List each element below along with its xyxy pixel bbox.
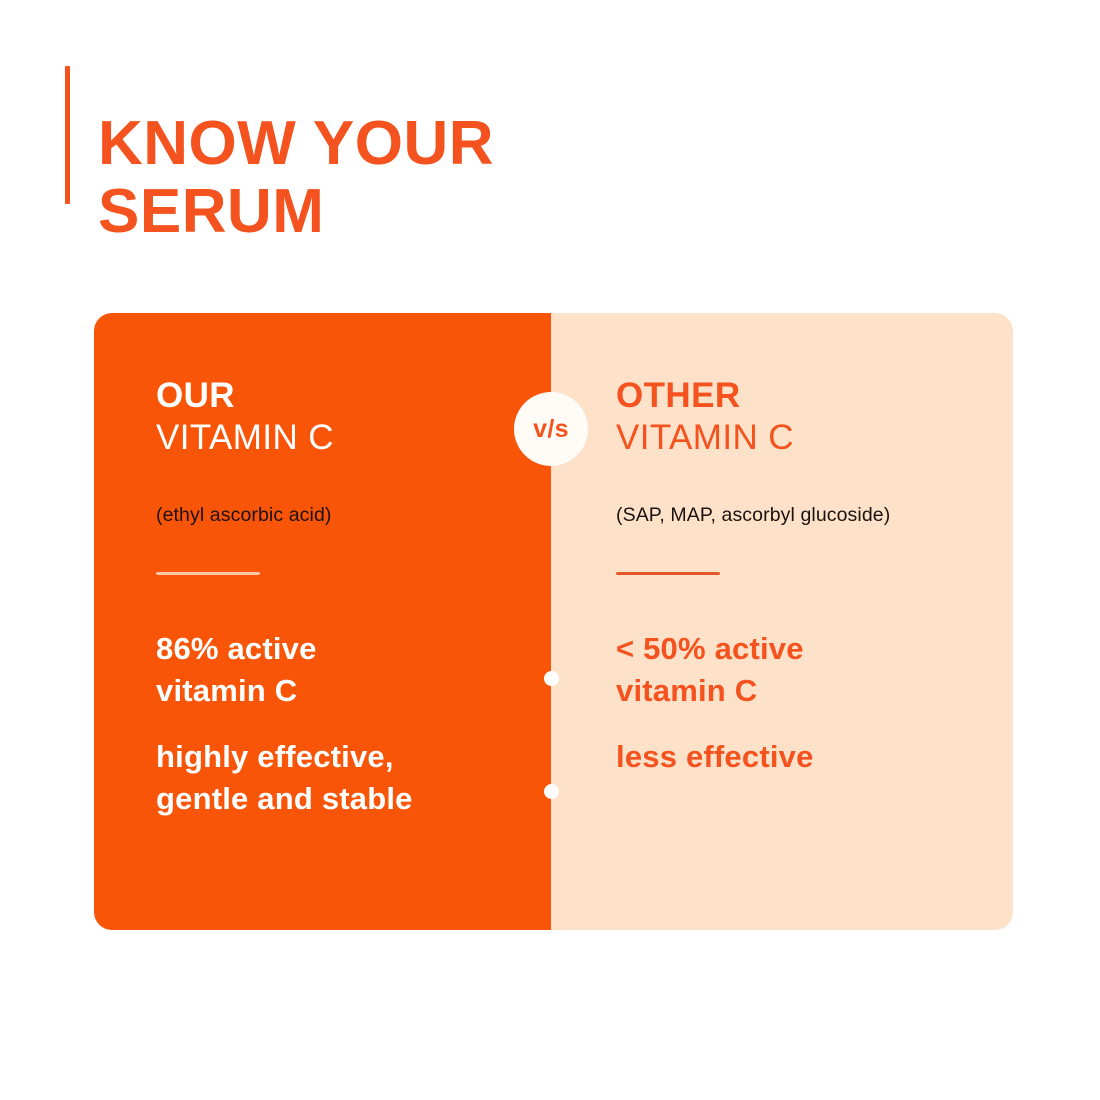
other-subtitle: (SAP, MAP, ascorbyl glucoside) [616, 502, 1013, 528]
our-divider-rule [156, 572, 260, 575]
our-bullet-2: highly effective, gentle and stable [156, 736, 551, 820]
other-divider-rule [616, 572, 720, 575]
divider-dot-icon-2 [544, 784, 559, 799]
divider-dot-icon-1 [544, 671, 559, 686]
page-title: Know Your Serum [98, 108, 494, 246]
panel-our-vitamin-c: Our Vitamin C (ethyl ascorbic acid) 86% … [94, 313, 551, 930]
our-subtitle: (ethyl ascorbic acid) [156, 502, 551, 528]
other-bullet-list: < 50% active vitamin C less effective [616, 628, 1013, 778]
our-heading: Vitamin C [156, 416, 551, 460]
our-eyebrow: Our [156, 375, 551, 416]
our-bullet-1: 86% active vitamin C [156, 628, 551, 712]
our-bullet-list: 86% active vitamin C highly effective, g… [156, 628, 551, 820]
page-title-block: Know Your Serum [65, 66, 494, 287]
versus-badge: v/s [514, 392, 588, 466]
other-bullet-2: less effective [616, 736, 1013, 778]
other-bullet-1: < 50% active vitamin C [616, 628, 1013, 712]
infographic-page: Know Your Serum Our Vitamin C (ethyl asc… [0, 0, 1100, 1100]
other-heading: Vitamin C [616, 416, 1013, 460]
title-accent-bar [65, 66, 70, 204]
other-eyebrow: Other [616, 375, 1013, 416]
panel-other-vitamin-c: Other Vitamin C (SAP, MAP, ascorbyl gluc… [551, 313, 1013, 930]
